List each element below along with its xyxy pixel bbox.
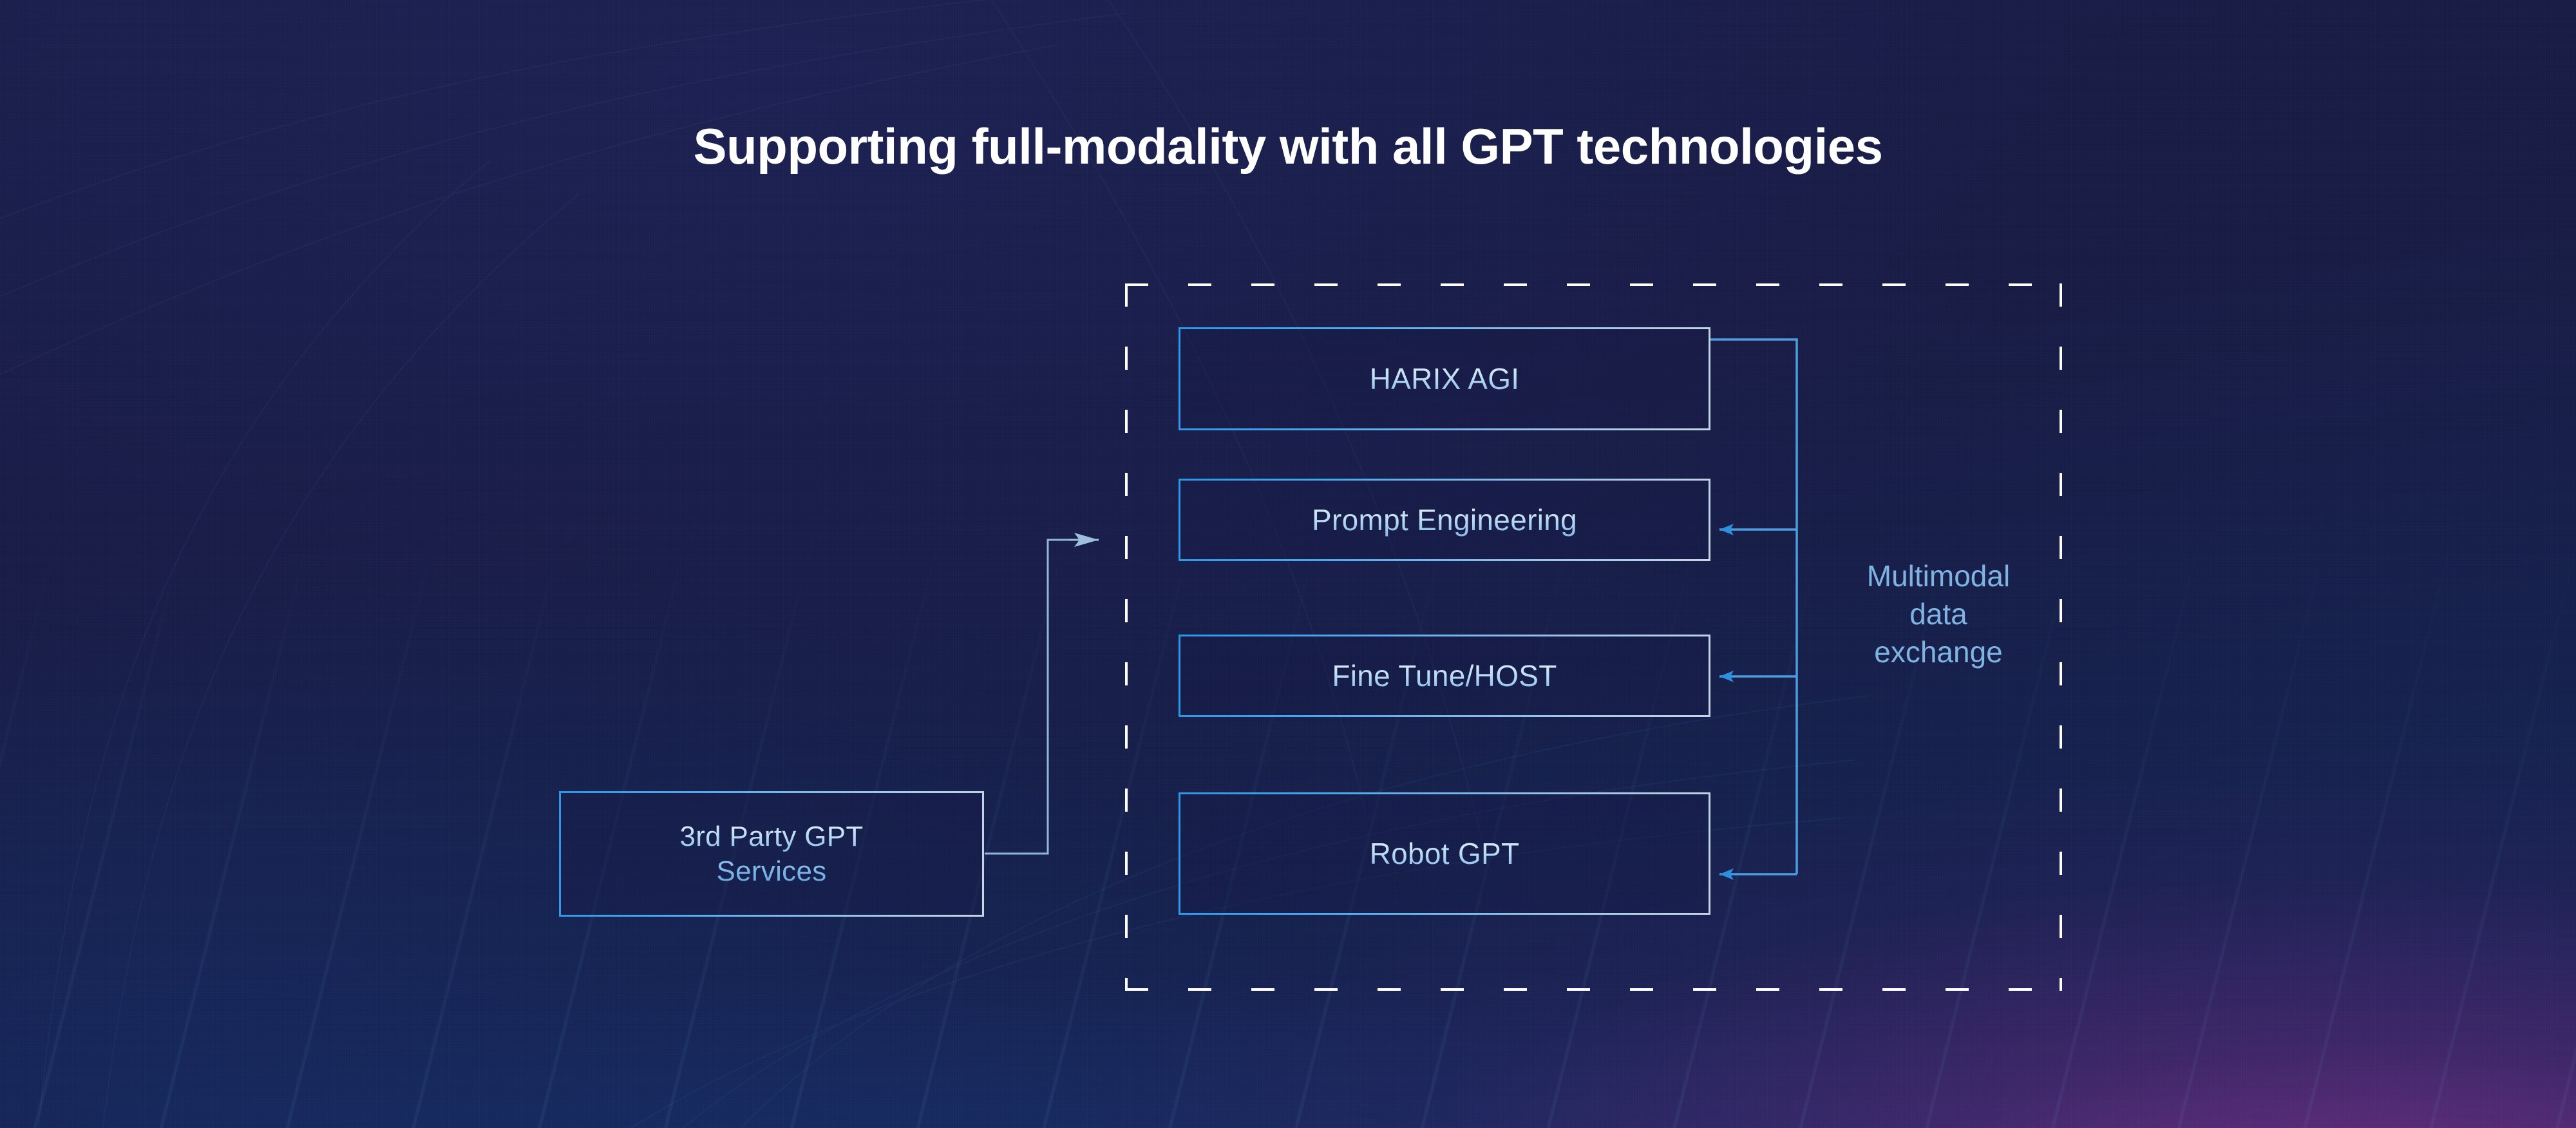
dashed-border-top (1125, 283, 2062, 286)
dashed-border-left (1125, 283, 1128, 991)
side-label-line-2: data (1816, 595, 2061, 633)
page-title: Supporting full-modality with all GPT te… (0, 117, 2576, 176)
node-fine-tune-host[interactable]: Fine Tune/HOST (1179, 635, 1710, 717)
node-third-party-gpt-services[interactable]: 3rd Party GPT Services (559, 791, 984, 917)
node-robot-gpt-label: Robot GPT (1370, 836, 1520, 872)
node-fine-tune-host-label: Fine Tune/HOST (1332, 658, 1557, 694)
node-third-party-line1: 3rd Party GPT (679, 819, 863, 854)
side-label-line-3: exchange (1816, 633, 2061, 671)
node-prompt-engineering[interactable]: Prompt Engineering (1179, 479, 1710, 561)
node-robot-gpt[interactable]: Robot GPT (1179, 792, 1710, 915)
dashed-border-bottom (1125, 988, 2062, 991)
node-harix-agi-label: HARIX AGI (1370, 361, 1520, 397)
node-third-party-line2: Services (679, 854, 863, 889)
slide-canvas: Supporting full-modality with all GPT te… (0, 0, 2576, 1128)
node-prompt-engineering-label: Prompt Engineering (1312, 502, 1577, 538)
node-harix-agi[interactable]: HARIX AGI (1179, 327, 1710, 430)
side-label-line-1: Multimodal (1816, 557, 2061, 595)
multimodal-data-exchange-label: Multimodal data exchange (1816, 557, 2061, 671)
